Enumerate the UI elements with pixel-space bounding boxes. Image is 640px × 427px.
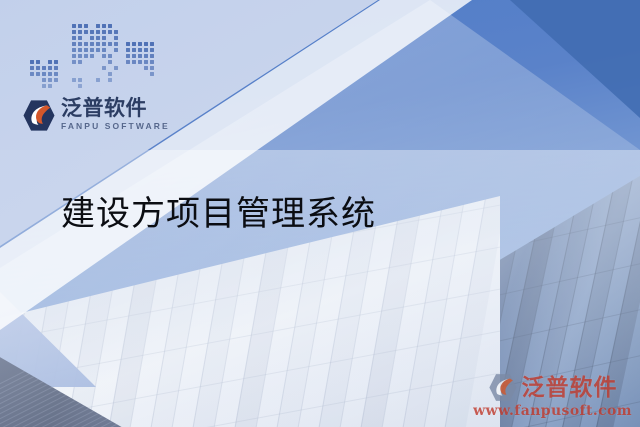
pixel-skyline-icon [30, 24, 148, 96]
brand-wordmark: 泛普软件 FANPU SOFTWARE [22, 98, 162, 132]
brand-logo: 泛普软件 FANPU SOFTWARE [22, 24, 162, 132]
brand-name-cn: 泛普软件 [61, 98, 170, 119]
site-watermark: 泛普软件 www.fanpusoft.com [473, 373, 632, 419]
page-title: 建设方项目管理系统 [61, 194, 376, 234]
watermark-brand-name: 泛普软件 [522, 376, 618, 400]
product-banner: 泛普软件 FANPU SOFTWARE 建设方项目管理系统 泛普软件 www.f… [0, 0, 640, 427]
watermark-url: www.fanpusoft.com [473, 403, 632, 419]
watermark-row: 泛普软件 [488, 373, 618, 402]
fanpu-shield-icon [488, 373, 518, 402]
brand-name-en: FANPU SOFTWARE [61, 121, 170, 132]
fanpu-shield-icon [22, 99, 56, 132]
brand-text: 泛普软件 FANPU SOFTWARE [61, 98, 170, 132]
